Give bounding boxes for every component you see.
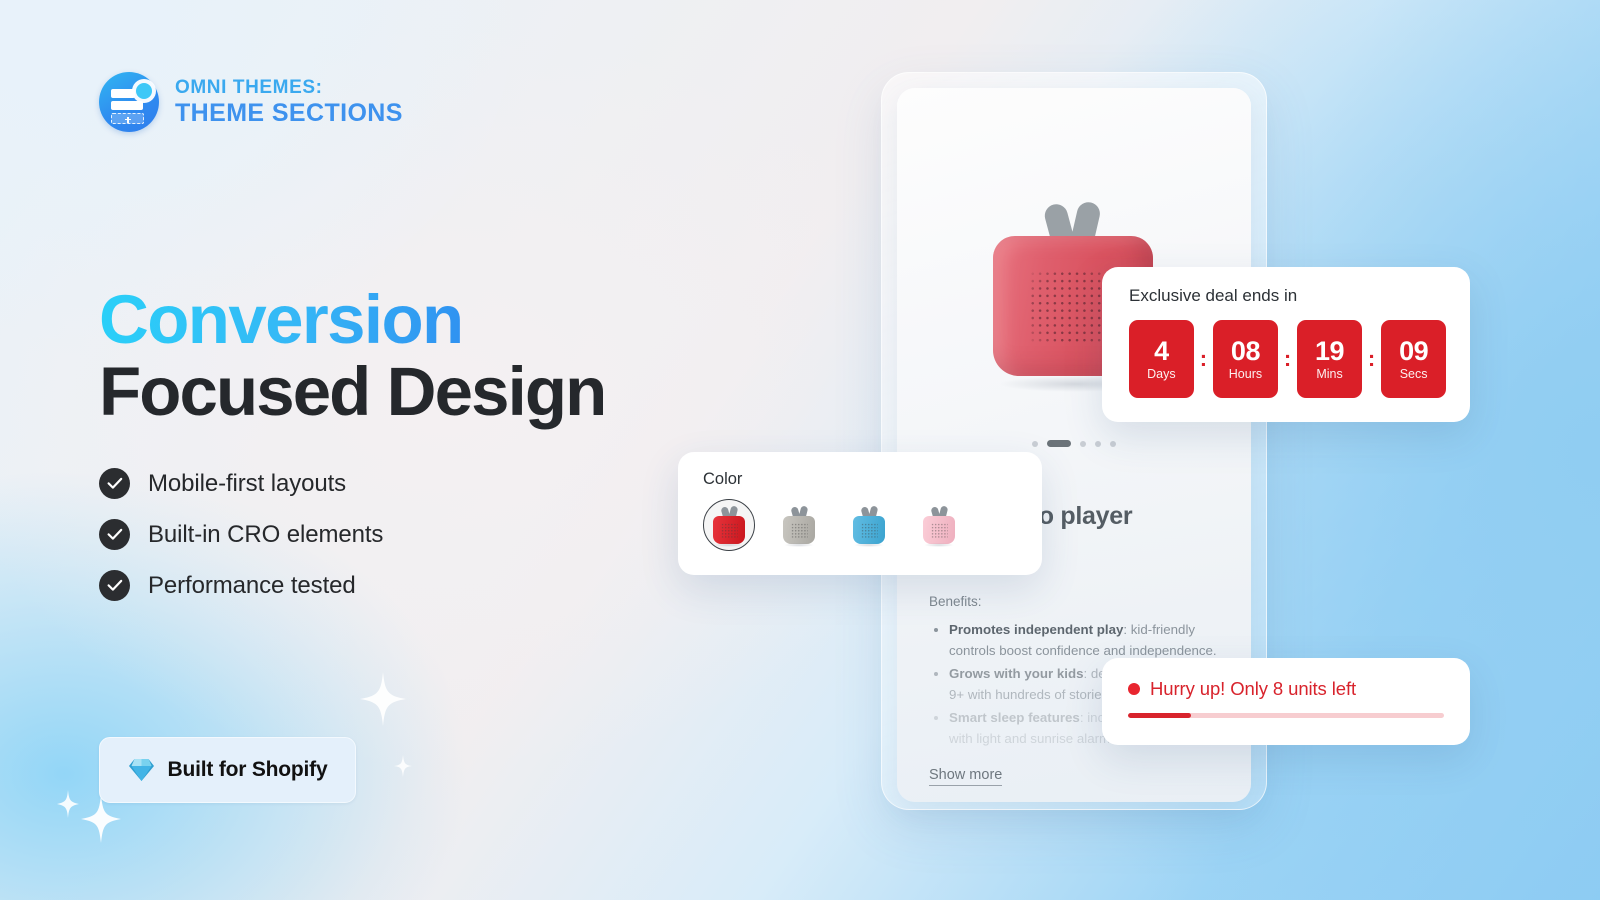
countdown-unit-mins: 19 Mins <box>1297 320 1362 398</box>
countdown-value: 19 <box>1315 338 1344 365</box>
badge-label: Built for Shopify <box>168 758 328 782</box>
countdown-title: Exclusive deal ends in <box>1129 286 1446 306</box>
check-icon <box>99 519 130 550</box>
stock-progress-fill <box>1128 713 1191 718</box>
theme-sections-logo-icon <box>99 72 159 132</box>
countdown-label: Mins <box>1316 367 1342 381</box>
built-for-shopify-badge[interactable]: Built for Shopify <box>99 737 356 803</box>
countdown-separator: : <box>1284 320 1291 398</box>
check-icon <box>99 570 130 601</box>
stock-message: Hurry up! Only 8 units left <box>1150 678 1356 700</box>
gem-icon <box>128 758 155 782</box>
benefits-label: Benefits: <box>929 594 1219 609</box>
countdown-label: Days <box>1147 367 1175 381</box>
show-more-link[interactable]: Show more <box>929 767 1002 786</box>
brand-logo-lockup: OMNI THEMES: THEME SECTIONS <box>99 72 403 132</box>
carousel-dot[interactable] <box>1080 441 1086 447</box>
sparkle-decoration-icon <box>360 672 406 726</box>
color-picker-title: Color <box>703 470 1042 489</box>
feature-item: Mobile-first layouts <box>99 458 383 509</box>
feature-label: Built-in CRO elements <box>148 521 383 549</box>
carousel-dot[interactable] <box>1095 441 1101 447</box>
benefit-bold: Smart sleep features <box>949 710 1080 725</box>
carousel-dot[interactable] <box>1032 441 1038 447</box>
stock-message-row: Hurry up! Only 8 units left <box>1128 678 1444 700</box>
check-icon <box>99 468 130 499</box>
countdown-value: 4 <box>1154 338 1169 365</box>
page-title: Conversion Focused Design <box>99 285 605 428</box>
countdown-unit-days: 4 Days <box>1129 320 1194 398</box>
color-picker-card: Color <box>678 452 1042 575</box>
countdown-separator: : <box>1200 320 1207 398</box>
color-swatch-pink[interactable] <box>913 499 965 551</box>
color-swatch-row <box>703 499 1042 551</box>
countdown-value: 09 <box>1399 338 1428 365</box>
countdown-separator: : <box>1368 320 1375 398</box>
countdown-value: 08 <box>1231 338 1260 365</box>
feature-list: Mobile-first layouts Built-in CRO elemen… <box>99 458 383 611</box>
feature-item: Built-in CRO elements <box>99 509 383 560</box>
carousel-dots[interactable] <box>897 440 1251 447</box>
feature-label: Mobile-first layouts <box>148 470 346 498</box>
brand-line-2: THEME SECTIONS <box>175 99 403 127</box>
benefit-item: Promotes independent play: kid-friendly … <box>949 619 1219 661</box>
carousel-dot[interactable] <box>1110 441 1116 447</box>
benefit-bold: Promotes independent play <box>949 622 1123 637</box>
countdown-unit-hours: 08 Hours <box>1213 320 1278 398</box>
benefit-bold: Grows with your kids <box>949 666 1083 681</box>
hero-banner: OMNI THEMES: THEME SECTIONS Conversion F… <box>0 0 1600 900</box>
color-swatch-grey[interactable] <box>773 499 825 551</box>
countdown-unit-secs: 09 Secs <box>1381 320 1446 398</box>
countdown-label: Secs <box>1400 367 1428 381</box>
feature-label: Performance tested <box>148 572 356 600</box>
carousel-dot-active[interactable] <box>1047 440 1071 447</box>
countdown-row: 4 Days : 08 Hours : 19 Mins : 09 Secs <box>1129 320 1446 398</box>
headline-rest: Focused Design <box>99 357 605 427</box>
headline-accent: Conversion <box>99 285 605 355</box>
sparkle-decoration-icon <box>394 755 412 777</box>
brand-line-1: OMNI THEMES: <box>175 77 403 98</box>
low-stock-card: Hurry up! Only 8 units left <box>1102 658 1470 745</box>
dot-indicator-icon <box>1128 683 1140 695</box>
color-swatch-red[interactable] <box>703 499 755 551</box>
stock-progress-bar <box>1128 713 1444 718</box>
sparkle-decoration-icon <box>57 790 79 818</box>
countdown-label: Hours <box>1229 367 1262 381</box>
color-swatch-blue[interactable] <box>843 499 895 551</box>
feature-item: Performance tested <box>99 560 383 611</box>
countdown-timer-card: Exclusive deal ends in 4 Days : 08 Hours… <box>1102 267 1470 422</box>
